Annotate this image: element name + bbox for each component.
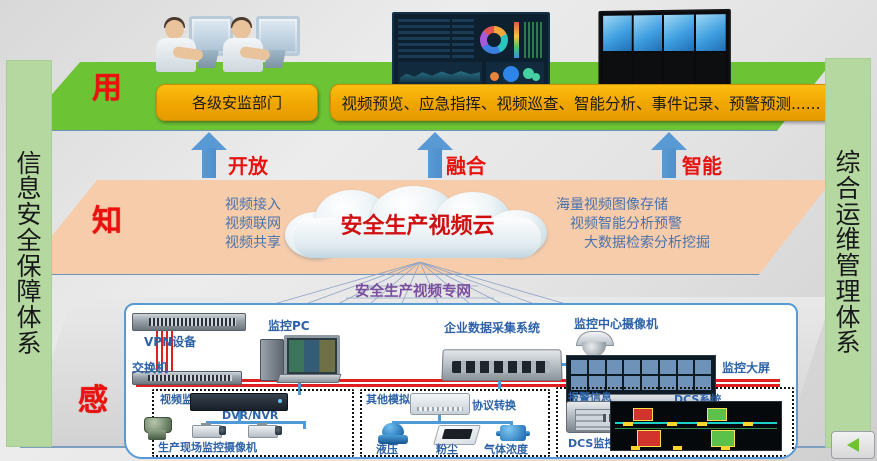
dashboard-table-right [452, 19, 474, 59]
pillar-left-char-2: 安 [16, 202, 41, 228]
monitor-pc-label: 监控PC [268, 317, 310, 334]
data-acquisition-label: 企业数据采集系统 [444, 319, 540, 336]
diagram-canvas: 信 息 安 全 保 障 体 系 综 合 运 维 管 理 体 系 用 知 感 [0, 0, 877, 461]
pillar-right-char-4: 管 [835, 253, 860, 279]
pillar-operations-management: 综 合 运 维 管 理 体 系 [825, 58, 871, 448]
center-camera-label: 监控中心摄像机 [574, 315, 658, 332]
pillar-right-char-1: 合 [835, 176, 860, 202]
bullet-camera-icon [248, 423, 282, 439]
cloud-note-left-0: 视频接入 [126, 196, 281, 215]
dvr-nvr-label: DVR/NVR [222, 409, 278, 422]
cloud-note-left-1: 视频联网 [126, 215, 281, 234]
dashboard-table-left [398, 19, 450, 59]
switch-label: 交换机 [132, 359, 168, 376]
monitor-wall-label: 监控大屏 [722, 359, 770, 376]
pillar-left-char-4: 保 [16, 254, 41, 280]
cloud-note-left-2: 视频共享 [126, 234, 281, 253]
pillar-information-security: 信 息 安 全 保 障 体 系 [6, 60, 52, 447]
play-left-icon [847, 438, 859, 452]
cloud-icon: 安全生产视频云 [285, 186, 550, 262]
gas-label: 气体浓度 [484, 441, 528, 457]
layer-tag-cloud: 知 [92, 196, 122, 240]
cloud-note-right-1: 视频智能分析预警 [556, 215, 791, 234]
cloud-note-right-0: 海量视频图像存储 [556, 196, 791, 215]
vpn-device-icon [132, 313, 246, 331]
private-network-label: 安全生产视频专网 [355, 280, 471, 301]
bi-dashboard-screen [392, 12, 550, 90]
pillar-right-char-2: 运 [835, 202, 860, 228]
operator-workstation-illustration-2 [222, 14, 294, 80]
function-box[interactable]: 视频预览、应急指挥、视频巡查、智能分析、事件记录、预警预测...... [330, 84, 832, 121]
cloud-note-right-2: 大数据检索分析挖掘 [556, 234, 791, 253]
dashboard-bubble-chart [486, 62, 544, 84]
cloud-title: 安全生产视频云 [285, 208, 550, 240]
arrow-up-icon-open [191, 132, 227, 178]
dcs-hmi-screen [610, 401, 782, 451]
pillar-left-char-5: 障 [16, 279, 41, 305]
pillar-left-char-0: 信 [16, 151, 41, 177]
dept-box[interactable]: 各级安监部门 [156, 84, 318, 121]
dashboard-donut-chart [480, 26, 508, 54]
dust-label: 粉尘 [436, 441, 458, 457]
ptz-camera-icon [142, 417, 172, 441]
arrow-label-fusion: 融合 [446, 150, 486, 179]
infrastructure-panel: VPN设备 交换机 监控PC 企业数据采集系统 监控中心摄像机 监控大屏 视频监… [124, 303, 798, 459]
data-acquisition-server-icon [442, 339, 560, 383]
hydraulic-label: 液压 [376, 441, 398, 457]
operator-workstation-illustration-1 [155, 14, 227, 80]
pillar-right-char-3: 维 [835, 227, 860, 253]
pillar-left-char-1: 息 [16, 176, 41, 202]
site-camera-label: 生产现场监控摄像机 [158, 439, 257, 455]
cloud-notes-left: 视频接入 视频联网 视频共享 [126, 196, 281, 253]
pillar-right-char-0: 综 [835, 150, 860, 176]
person-head [165, 20, 184, 39]
cloud-notes-right: 海量视频图像存储 视频智能分析预警 大数据检索分析挖掘 [556, 196, 791, 253]
corner-badge [831, 431, 875, 459]
dashboard-color-scale [514, 22, 519, 58]
arrow-label-intelligent: 智能 [682, 150, 722, 179]
layer-tag-application: 用 [92, 63, 122, 107]
protocol-converter-label: 协议转换 [472, 397, 516, 413]
pillar-left-char-3: 全 [16, 228, 41, 254]
pillar-left-char-6: 体 [16, 305, 41, 331]
dashboard-area-chart [398, 62, 482, 84]
pillar-right-char-6: 体 [835, 305, 860, 331]
dashboard-heatmap [524, 22, 544, 58]
bullet-camera-icon [192, 423, 226, 439]
monitor-pc-icon [260, 333, 338, 385]
layer-tag-perception: 感 [78, 375, 108, 419]
pillar-left-char-7: 系 [16, 331, 41, 357]
person-head [232, 20, 251, 39]
vpn-device-label: VPN设备 [144, 333, 196, 350]
video-wall-screen [598, 9, 730, 95]
arrow-label-open: 开放 [228, 150, 268, 179]
pillar-right-char-5: 理 [835, 279, 860, 305]
pillar-right-char-7: 系 [835, 330, 860, 356]
protocol-converter-icon [410, 393, 470, 415]
